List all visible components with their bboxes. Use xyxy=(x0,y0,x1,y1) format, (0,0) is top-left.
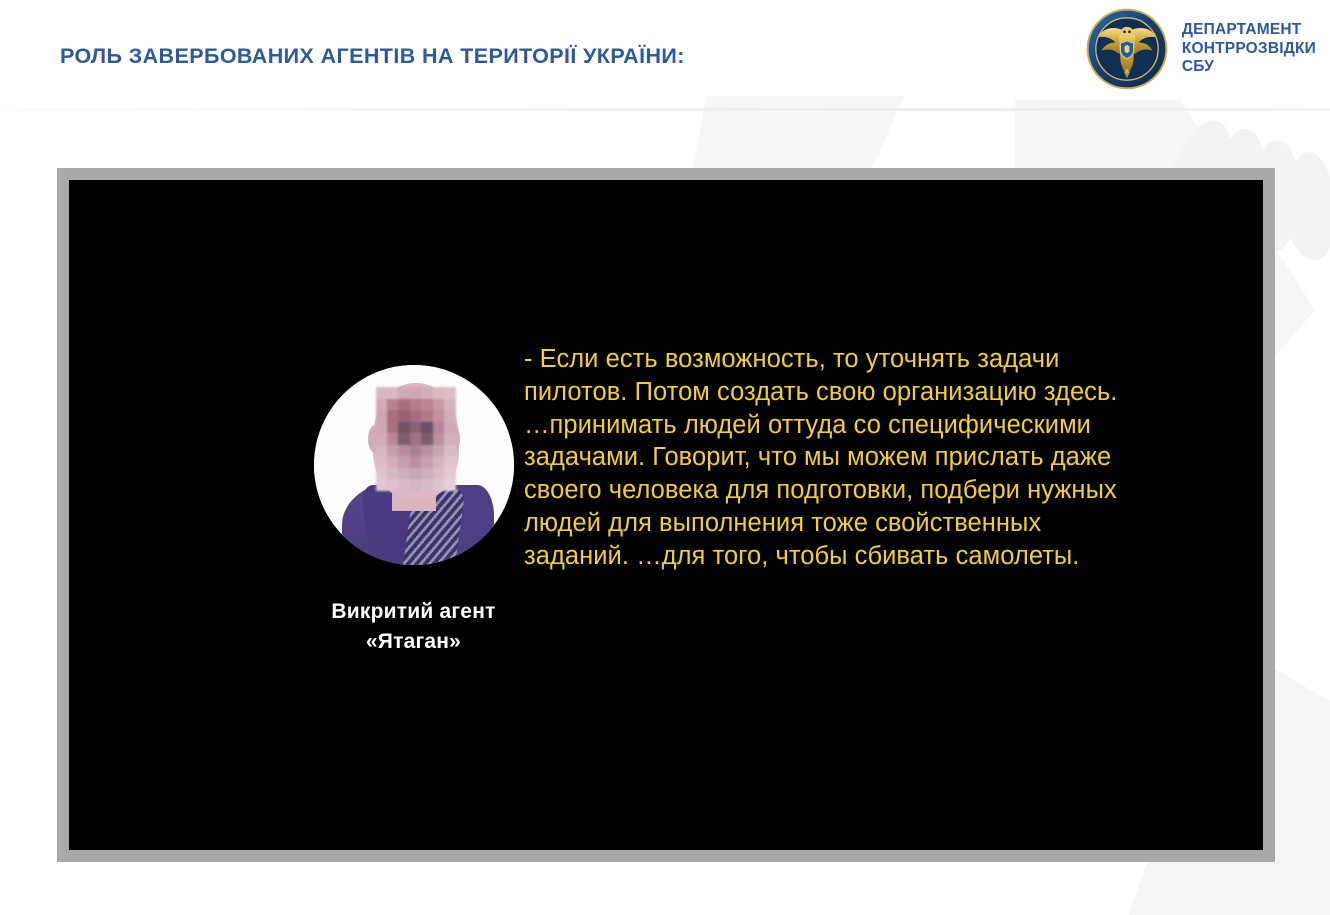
agent-caption-line-1: Викритий агент xyxy=(241,597,586,627)
brand-text: ДЕПАРТАМЕНТ КОНТРРОЗВІДКИ СБУ xyxy=(1182,21,1316,78)
agent-photo-caption: Викритий агент «Ятаган» xyxy=(241,597,586,658)
sbu-owl-emblem-icon xyxy=(1086,8,1168,90)
agent-caption-line-2: «Ятаган» xyxy=(241,627,586,657)
page-header: РОЛЬ ЗАВЕРБОВАНИХ АГЕНТІВ НА ТЕРИТОРІЇ У… xyxy=(0,0,1330,110)
page-title: РОЛЬ ЗАВЕРБОВАНИХ АГЕНТІВ НА ТЕРИТОРІЇ У… xyxy=(60,44,685,69)
slide-frame: Викритий агент «Ятаган» - Если есть возм… xyxy=(57,168,1275,862)
watermark-feather-icon xyxy=(1283,151,1330,261)
agent-quote-text: - Если есть возможность, то уточнять зад… xyxy=(524,343,1144,572)
face-pixelation-overlay xyxy=(376,387,456,491)
blurred-portrait-photo xyxy=(314,365,514,565)
brand-line-1: ДЕПАРТАМЕНТ xyxy=(1182,21,1316,40)
brand-line-3: СБУ xyxy=(1182,58,1316,77)
brand-lockup: ДЕПАРТАМЕНТ КОНТРРОЗВІДКИ СБУ xyxy=(1086,8,1316,90)
brand-line-2: КОНТРРОЗВІДКИ xyxy=(1182,40,1316,59)
slide-content-area: Викритий агент «Ятаган» - Если есть возм… xyxy=(69,180,1263,850)
